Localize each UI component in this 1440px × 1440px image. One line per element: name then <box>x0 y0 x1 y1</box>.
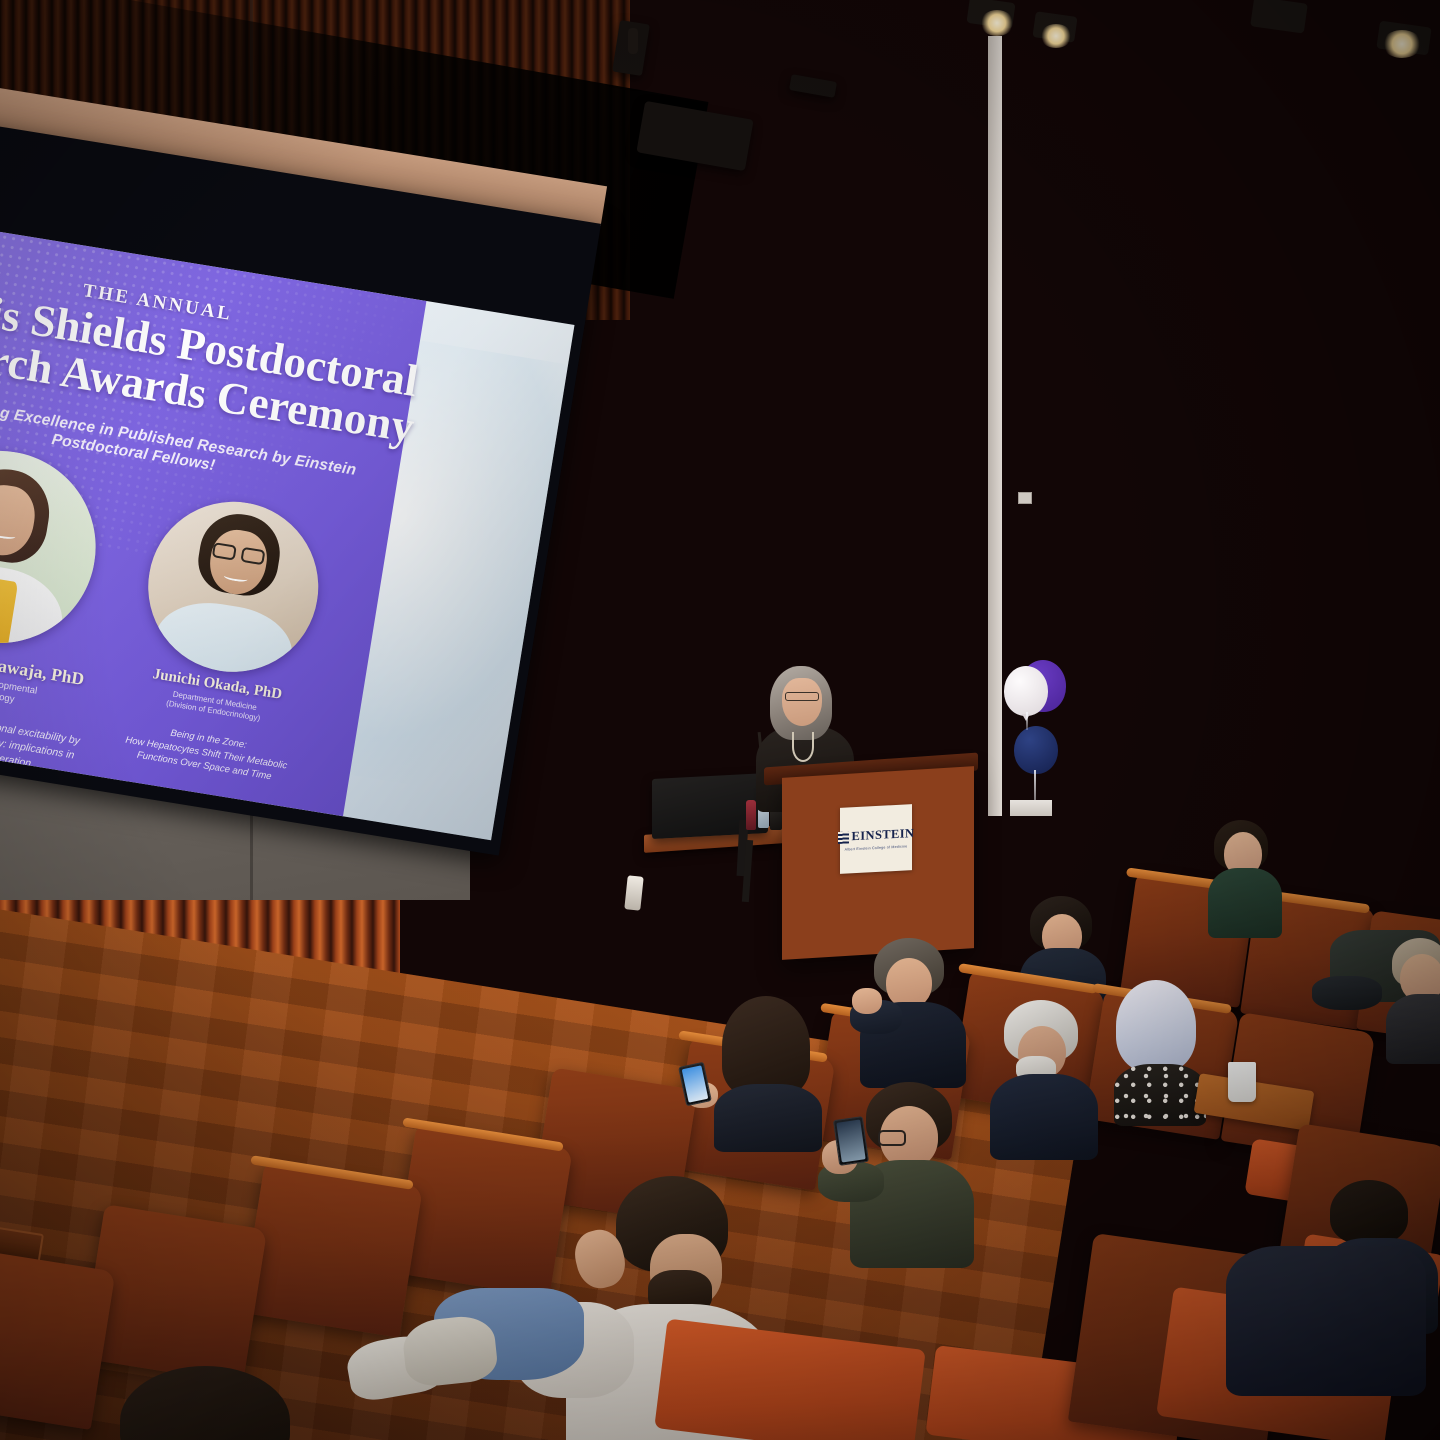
presentation-slide: THE ANNUAL Dennis Shields Postdoctoral R… <box>0 216 574 840</box>
podium-area: EINSTEIN Albert Einstein College of Medi… <box>720 660 980 960</box>
podium-sign-tagline: Albert Einstein College of Medicine <box>845 844 908 851</box>
podium-sign: EINSTEIN Albert Einstein College of Medi… <box>840 804 912 874</box>
window-frame <box>988 36 1002 816</box>
leg <box>1312 976 1382 1010</box>
projection-screen: THE ANNUAL Dennis Shields Postdoctoral R… <box>0 112 601 866</box>
window-latch <box>1018 492 1032 504</box>
einstein-logo-mark-icon <box>838 831 849 844</box>
awardee-photo-right <box>136 489 331 684</box>
balloon-weight <box>1010 800 1052 816</box>
smartphone-camera[interactable] <box>833 1116 869 1166</box>
auditorium-scene: THE ANNUAL Dennis Shields Postdoctoral R… <box>0 0 1440 1440</box>
track-light-icon <box>628 28 638 54</box>
track-light-glow <box>1040 24 1072 48</box>
glasses-icon <box>878 1130 906 1146</box>
auditorium-seat[interactable] <box>393 1125 573 1298</box>
balloon-navy <box>1014 726 1058 774</box>
balloon-string <box>1026 712 1028 730</box>
balloon-white <box>1004 666 1048 716</box>
screen-surface: THE ANNUAL Dennis Shields Postdoctoral R… <box>0 112 601 856</box>
auditorium-seat[interactable] <box>241 1162 423 1337</box>
paper-cup <box>1228 1062 1256 1102</box>
ceiling-light-bar-icon <box>789 74 837 98</box>
speaker-face <box>782 678 822 726</box>
sanitizer-bottle <box>624 875 643 910</box>
track-light-glow <box>980 10 1014 36</box>
necklace <box>792 732 814 762</box>
podium-sign-name: EINSTEIN <box>852 826 915 844</box>
hand <box>852 988 882 1014</box>
track-light-glow <box>1382 30 1422 58</box>
glasses-icon <box>785 692 819 701</box>
track-light-icon <box>1250 0 1308 34</box>
